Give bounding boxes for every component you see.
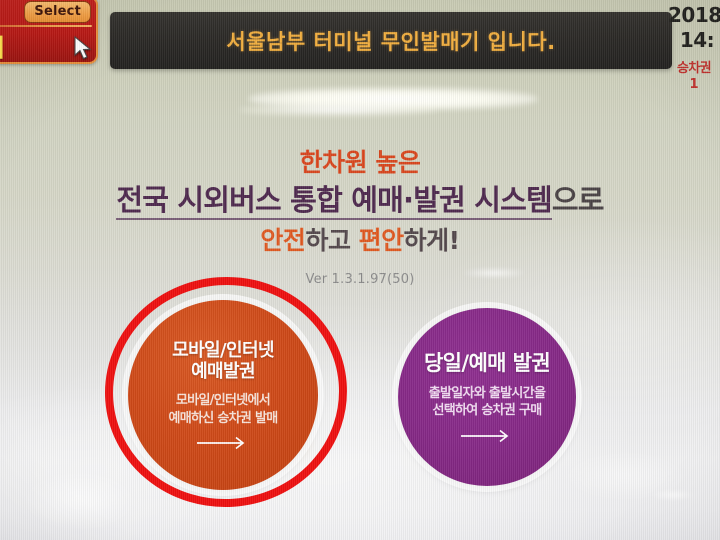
header-banner-text: 서울남부 터미널 무인발매기 입니다. [226,26,555,56]
glass-reflection-right [560,452,690,500]
screen-sheen [0,0,720,540]
ticket-counter-value: 1 [668,77,720,90]
option-today-subtitle: 출발일자와 출발시간을 선택하여 승차권 구매 [429,385,545,420]
option-today-title-line1: 당일/예매 발권 [424,351,550,376]
photo-vignette [0,0,720,540]
slogan-line-2-emphasis: 전국 시외버스 통합 예매·발권 시스템 [116,183,552,220]
slogan-line-3: 안전하고 편안하게! [0,226,720,257]
mouse-cursor-icon [74,36,94,62]
clock-date: 2018 [668,3,720,27]
select-button[interactable]: Select [24,1,91,23]
arrow-right-icon [459,429,515,443]
slogan-line-3-emphasis-2: 편안 [359,226,404,255]
clock-area: 2018 14: 승차권 1 [668,0,720,90]
option-mobile-sub-line1: 모바일/인터넷에서 [169,392,278,410]
slogan-line-3-plain-1: 하고 [305,226,358,255]
option-today-sub-line2: 선택하여 승차권 구매 [429,402,545,420]
option-mobile-subtitle: 모바일/인터넷에서 예매하신 승차권 발매 [169,392,278,427]
lcd-striping-overlay [0,0,720,540]
option-today-title: 당일/예매 발권 [424,351,550,376]
slogan-line-1: 한차원 높은 [0,148,720,179]
option-mobile-title-line2: 예매발권 [172,361,274,383]
option-today-reserve-button[interactable]: 당일/예매 발권 출발일자와 출발시간을 선택하여 승차권 구매 [398,308,576,486]
language-panel-divider [0,25,92,27]
slogan-block: 한차원 높은 전국 시외버스 통합 예매·발권 시스템으로 안전하고 편안하게! [0,148,720,256]
option-mobile-internet-button[interactable]: 모바일/인터넷 예매발권 모바일/인터넷에서 예매하신 승차권 발매 [128,300,318,490]
current-language-label: -어 [0,28,4,63]
header-banner: 서울남부 터미널 무인발매기 입니다. [110,12,672,69]
option-today-sub-line1: 출발일자와 출발시간을 [429,385,545,403]
ticket-counter-label: 승차권 [668,57,720,76]
glass-reflection-corner [650,490,696,500]
version-label: Ver 1.3.1.97(50) [0,272,720,287]
glass-reflection-left [20,470,140,530]
kiosk-screen: 서울남부 터미널 무인발매기 입니다. 2018 14: 승차권 1 한차원 높… [0,0,720,540]
light-reflection-band [248,88,538,110]
clock-time: 14: [674,28,720,52]
slogan-line-3-plain-2: 하게! [404,226,460,255]
light-reflection-band-secondary [238,104,438,116]
slogan-line-2: 전국 시외버스 통합 예매·발권 시스템으로 [0,183,720,218]
option-mobile-sub-line2: 예매하신 승차권 발매 [169,410,278,428]
option-mobile-title: 모바일/인터넷 예매발권 [172,340,274,383]
slogan-line-2-tail: 으로 [552,183,604,217]
option-mobile-title-line1: 모바일/인터넷 [172,340,274,362]
arrow-right-icon [195,436,251,450]
slogan-line-3-emphasis-1: 안전 [260,226,305,255]
